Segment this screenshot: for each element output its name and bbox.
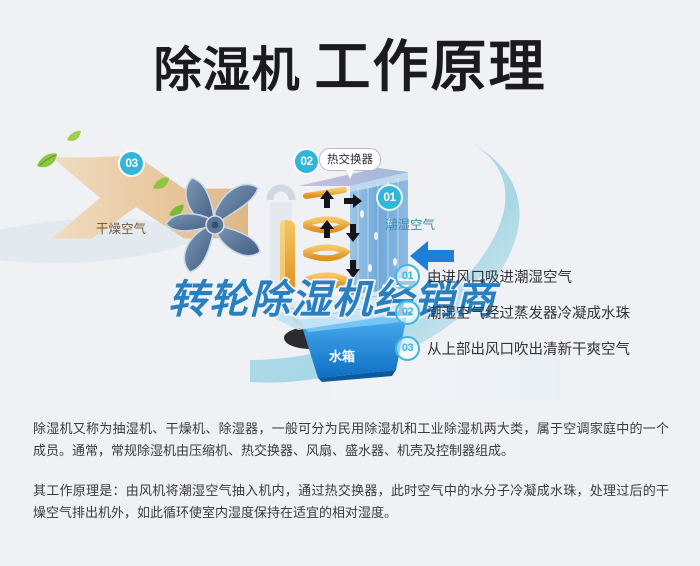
- step-label: 从上部出风口吹出清新干爽空气: [427, 338, 630, 359]
- step-number: 03: [395, 336, 420, 361]
- leaf-icon: [66, 130, 82, 143]
- callout-tail-icon: [345, 169, 355, 179]
- marker-01: 01: [378, 186, 401, 209]
- step-item: 02潮湿空气经过蒸发器冷凝成水珠: [395, 300, 695, 336]
- page-title: 除湿机工作原理: [0, 22, 700, 103]
- poster-root: 除湿机工作原理: [0, 0, 700, 566]
- steps-list: 01由进风口吸进潮湿空气 02潮湿空气经过蒸发器冷凝成水珠 03从上部出风口吹出…: [395, 264, 695, 372]
- step-item: 03从上部出风口吹出清新干爽空气: [395, 336, 695, 372]
- title-sub-text: 工作原理: [315, 22, 547, 103]
- step-label: 潮湿空气经过蒸发器冷凝成水珠: [427, 302, 630, 323]
- step-item: 01由进风口吸进潮湿空气: [395, 264, 695, 300]
- title-main-text: 除湿机: [153, 30, 300, 100]
- step-label: 由进风口吸进潮湿空气: [427, 266, 572, 287]
- label-water-tank: 水箱: [329, 346, 355, 365]
- heat-exchanger-callout: 热交换器: [319, 148, 381, 171]
- paragraph-definition: 除湿机又称为抽湿机、干燥机、除湿器，一般可分为民用除湿机和工业除湿机两大类，属于…: [33, 418, 669, 462]
- step-number: 02: [395, 300, 420, 325]
- leaf-icon: [36, 152, 58, 170]
- body-text-block: 除湿机又称为抽湿机、干燥机、除湿器，一般可分为民用除湿机和工业除湿机两大类，属于…: [33, 418, 669, 542]
- marker-03: 03: [120, 152, 143, 175]
- marker-02: 02: [295, 150, 318, 173]
- step-number: 01: [395, 264, 420, 289]
- paragraph-principle: 其工作原理是：由风机将潮湿空气抽入机内，通过热交换器，此时空气中的水分子冷凝成水…: [33, 480, 669, 524]
- label-humid-air: 潮湿空气: [385, 214, 435, 233]
- label-dry-air: 干燥空气: [96, 218, 146, 237]
- fan-icon: [160, 168, 270, 283]
